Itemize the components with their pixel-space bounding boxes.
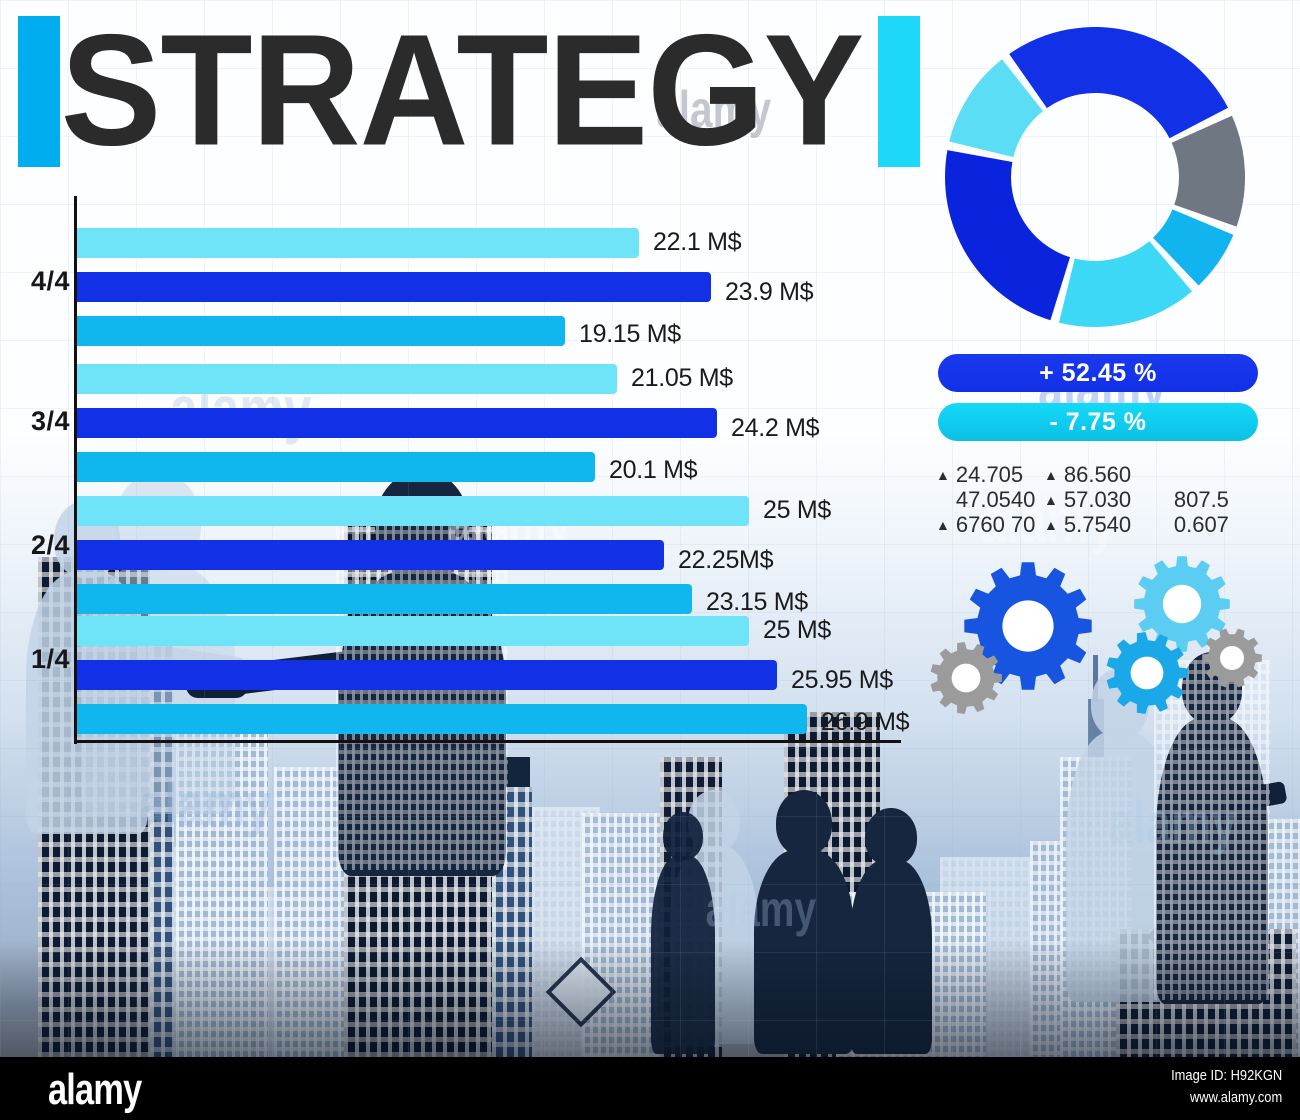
up-triangle-icon: ▲ <box>1044 518 1058 532</box>
percent-bar-label: - 7.75 % <box>1049 408 1146 437</box>
statistic-value: 6760 70 <box>956 512 1036 538</box>
statistic-value: 807.5 <box>1174 487 1229 513</box>
statistic-cell: ▲86.560 <box>1044 462 1154 487</box>
y-axis-tick-label: 3/4 <box>18 406 70 437</box>
bar <box>77 496 749 526</box>
bar <box>77 364 617 394</box>
gear-hub <box>1002 600 1053 651</box>
bottom-haze <box>0 940 1300 1057</box>
bar-value-label: 25 M$ <box>763 496 831 525</box>
page-title-block: STRATEGY <box>0 8 920 174</box>
donut-slice-segment-2 <box>1009 27 1228 138</box>
website-text: www.alamy.com <box>1171 1087 1282 1109</box>
bar-value-label: 19.15 M$ <box>579 320 681 349</box>
bar <box>77 316 565 346</box>
statistic-cell: ▲0.607 <box>1154 512 1224 537</box>
percent-bar-positive: + 52.45 % <box>938 354 1258 392</box>
bar-value-label: 24.2 M$ <box>731 414 819 443</box>
up-triangle-icon: ▲ <box>1044 493 1058 507</box>
alamy-logo: alamy <box>48 1065 141 1115</box>
bar <box>77 616 749 646</box>
bar-value-label: 23.15 M$ <box>706 588 808 617</box>
statistic-cell: ▲57.030 <box>1044 487 1154 512</box>
bar <box>77 704 807 734</box>
gear-hub <box>952 664 981 693</box>
statistic-value: 5.7540 <box>1064 512 1131 538</box>
y-axis-tick-label: 4/4 <box>18 266 70 297</box>
donut-slice-segment-3 <box>1172 116 1245 227</box>
statistics-grid: ▲24.705▲86.560▲▲47.0540▲57.030▲807.5▲676… <box>936 462 1276 537</box>
title-accent-bar-right <box>878 16 920 167</box>
bar <box>77 452 595 482</box>
up-triangle-icon: ▲ <box>936 518 950 532</box>
gear-cyan <box>1106 632 1188 714</box>
bar-value-label: 22.1 M$ <box>653 228 741 257</box>
bar-value-label: 26.9 M$ <box>821 708 909 737</box>
statistic-value: 86.560 <box>1064 462 1131 488</box>
gear-hub <box>1131 657 1164 690</box>
donut-slice-segment-6 <box>945 150 1070 320</box>
percent-bar-negative: - 7.75 % <box>938 403 1258 441</box>
statistic-value: 57.030 <box>1064 487 1131 513</box>
page-title: STRATEGY <box>52 11 872 172</box>
y-axis-tick-label: 2/4 <box>18 530 70 561</box>
statistic-value: 47.0540 <box>956 487 1036 513</box>
bar-value-label: 23.9 M$ <box>725 278 813 307</box>
bar-value-label: 21.05 M$ <box>631 364 733 393</box>
donut-chart <box>920 14 1270 344</box>
bar <box>77 272 711 302</box>
up-triangle-icon: ▲ <box>936 468 950 482</box>
bar <box>77 660 777 690</box>
statistic-cell: ▲807.5 <box>1154 487 1224 512</box>
gear-gray-right <box>1202 628 1262 688</box>
bar <box>77 584 692 614</box>
percent-bars: + 52.45 % - 7.75 % <box>938 354 1258 452</box>
bar-value-label: 25.95 M$ <box>791 666 893 695</box>
bar-value-label: 22.25M$ <box>678 546 773 575</box>
bar-chart: 4/4 3/4 2/4 1/4 22.1 M$23.9 M$19.15 M$21… <box>0 196 920 756</box>
gear-gray-left <box>930 642 1002 714</box>
infographic-canvas: alamy alamy alamy alamy alamy alamy alam… <box>0 0 1300 1057</box>
statistic-value: 0.607 <box>1174 512 1229 538</box>
x-axis-line <box>74 740 901 743</box>
donut-svg <box>937 19 1253 335</box>
statistic-cell: ▲5.7540 <box>1044 512 1154 537</box>
y-axis-tick-label: 1/4 <box>18 644 70 675</box>
gear-hub <box>1220 646 1244 670</box>
bar <box>77 408 717 438</box>
bar <box>77 540 664 570</box>
statistic-cell: ▲ <box>1154 462 1224 487</box>
up-triangle-icon: ▲ <box>1044 468 1058 482</box>
gears-group <box>930 550 1270 725</box>
percent-bar-label: + 52.45 % <box>1039 359 1157 388</box>
bar-value-label: 20.1 M$ <box>609 456 697 485</box>
gear-hub <box>1163 585 1201 623</box>
statistic-cell: ▲6760 70 <box>936 512 1044 537</box>
statistic-cell: ▲24.705 <box>936 462 1044 487</box>
bar-value-label: 25 M$ <box>763 616 831 645</box>
bar <box>77 228 639 258</box>
statistic-value: 24.705 <box>956 462 1023 488</box>
statistic-cell: ▲47.0540 <box>936 487 1044 512</box>
footer-meta: Image ID: H92KGN www.alamy.com <box>1171 1065 1282 1109</box>
image-id-text: Image ID: H92KGN <box>1171 1065 1282 1087</box>
footer-bar: alamy Image ID: H92KGN www.alamy.com <box>0 1057 1300 1120</box>
